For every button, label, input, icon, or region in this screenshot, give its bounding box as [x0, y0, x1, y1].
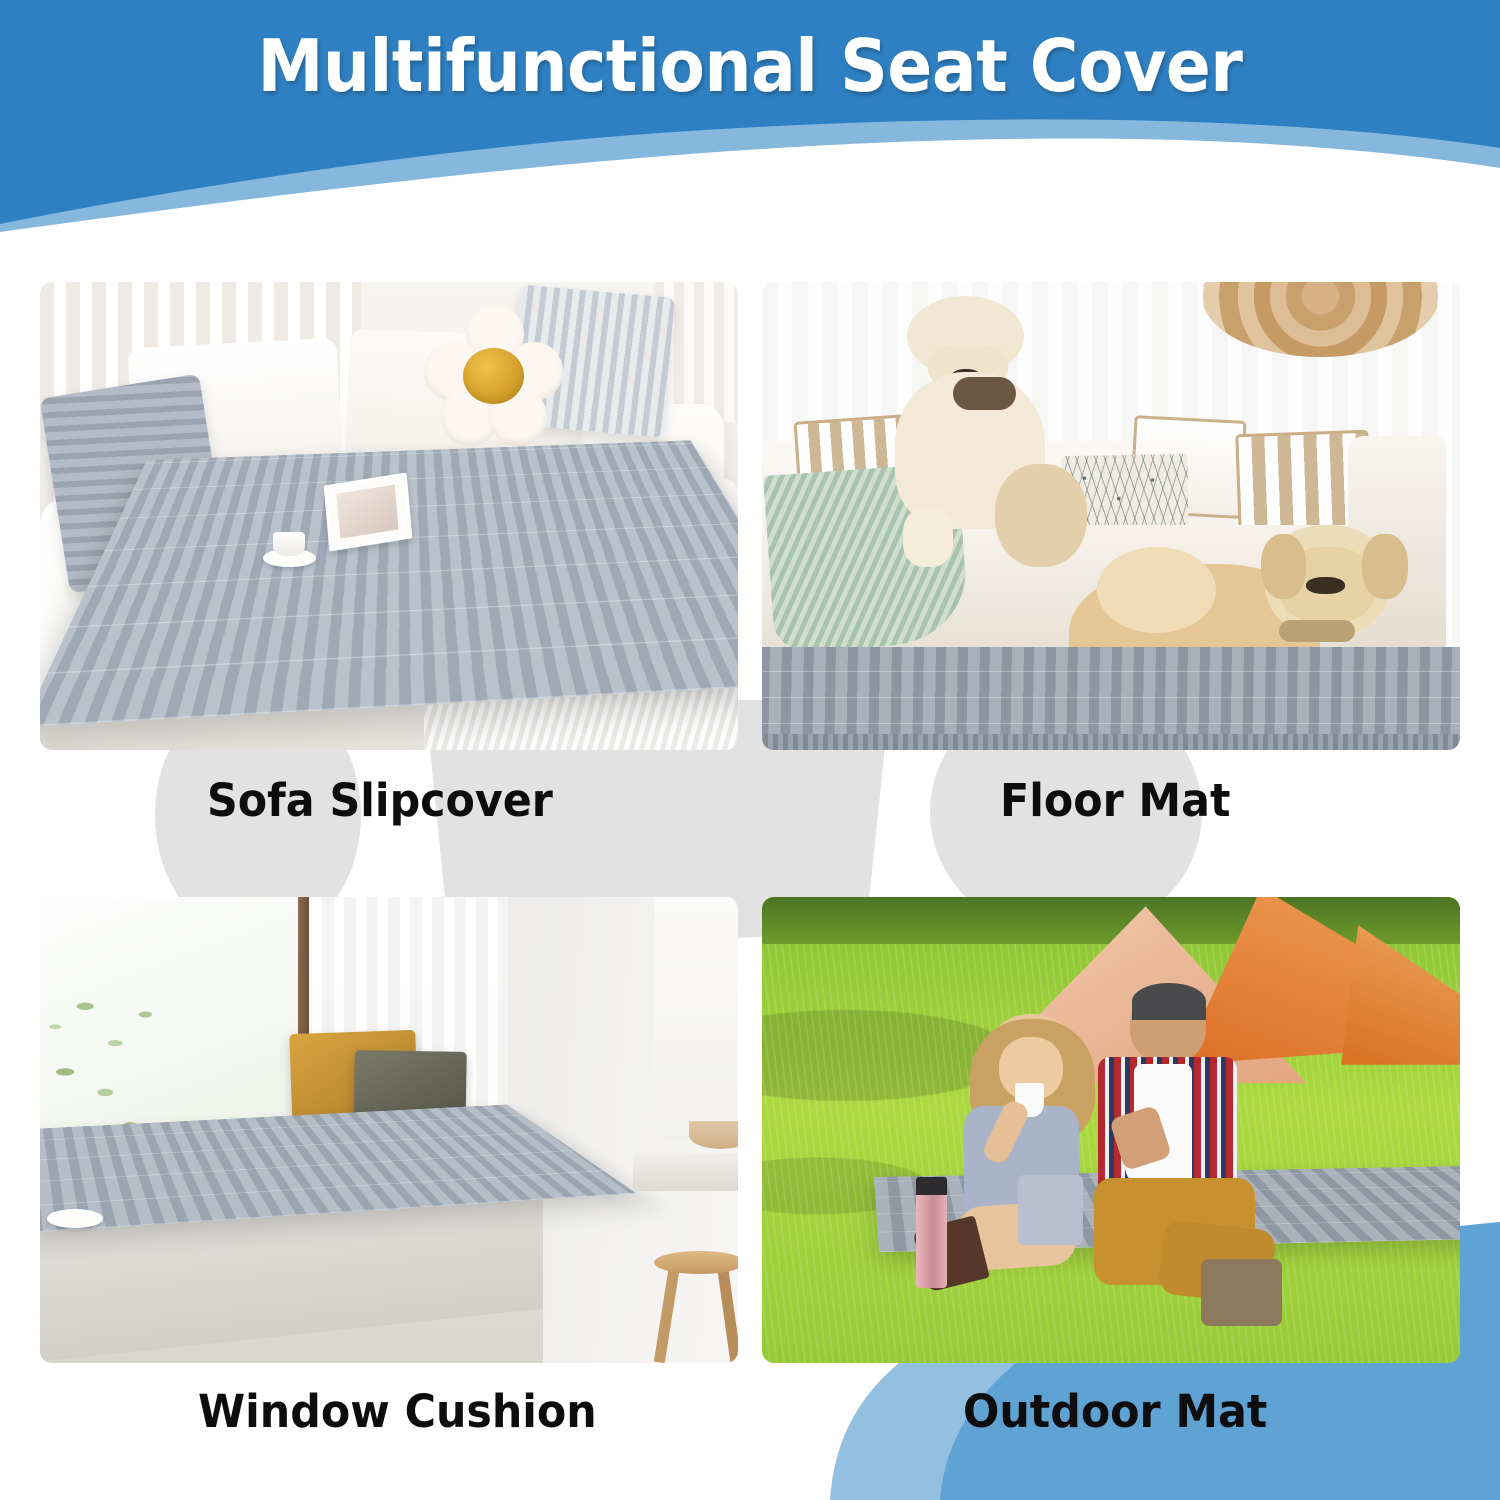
- panel-grid: Sofa Slipcover Floor Mat Window Cushion …: [0, 0, 1500, 1500]
- dog-sitting: [874, 296, 1083, 567]
- cup: [273, 532, 305, 555]
- mat-fringe: [762, 734, 1460, 750]
- scene-window-cushion: [40, 897, 738, 1363]
- thermos-bottle: [916, 1186, 947, 1289]
- flower-pillow: [424, 305, 564, 445]
- panel-floor-mat[interactable]: [762, 282, 1460, 750]
- caption-sofa-slipcover: Sofa Slipcover: [207, 774, 553, 827]
- thermos-cap: [916, 1177, 947, 1196]
- scene-sofa-slipcover: [40, 282, 738, 750]
- caption-window-cushion: Window Cushion: [198, 1385, 597, 1438]
- treeline: [762, 897, 1460, 944]
- caption-outdoor-mat: Outdoor Mat: [963, 1385, 1267, 1438]
- person-man: [1076, 990, 1299, 1326]
- caption-floor-mat: Floor Mat: [1000, 774, 1230, 827]
- saucer: [47, 1209, 103, 1228]
- panel-window-cushion[interactable]: [40, 897, 738, 1363]
- scene-floor-mat: [762, 282, 1460, 750]
- wooden-bowl: [689, 1121, 738, 1149]
- scene-outdoor-mat: [762, 897, 1460, 1363]
- side-table: [633, 1153, 738, 1190]
- panel-outdoor-mat[interactable]: [762, 897, 1460, 1363]
- panel-sofa-slipcover[interactable]: [40, 282, 738, 750]
- photo-frame: [324, 472, 412, 551]
